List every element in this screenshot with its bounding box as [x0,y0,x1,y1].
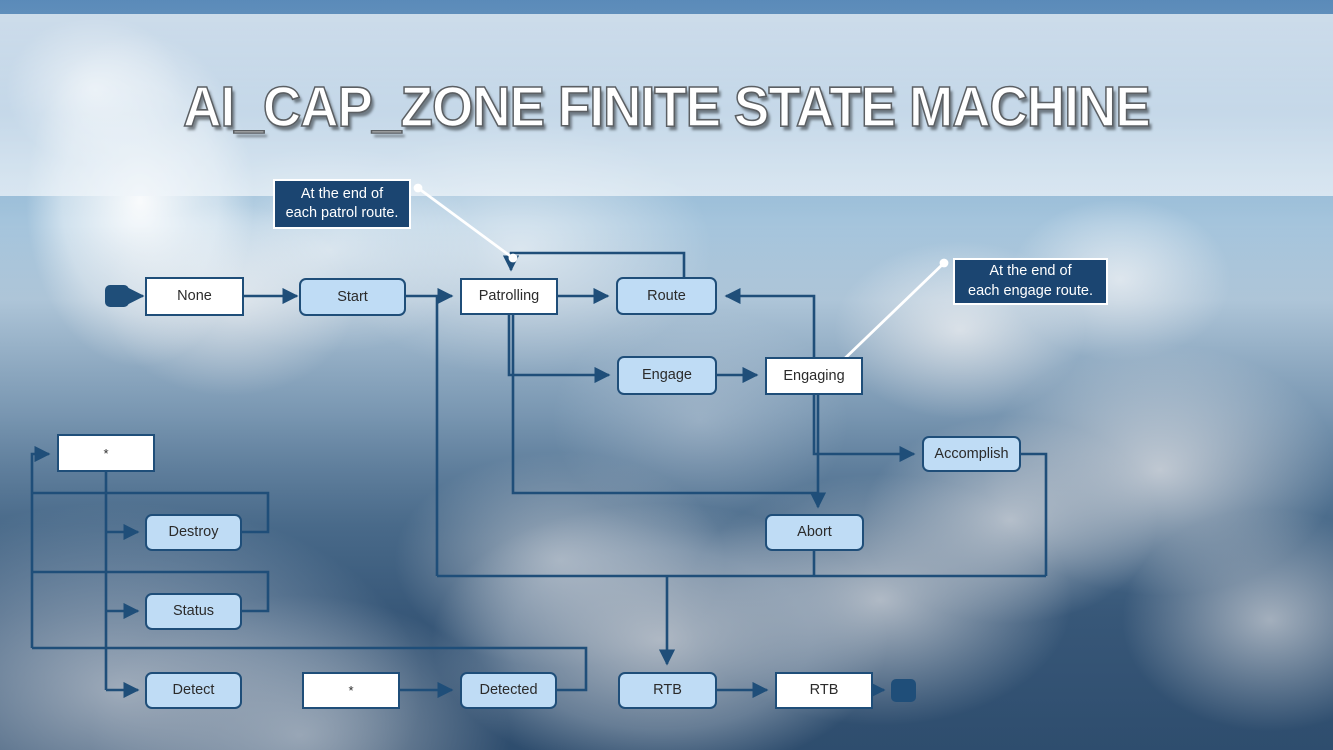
state-node-destroy[interactable]: Destroy [145,514,242,551]
callout-line-1: At the end of [301,185,383,204]
state-node-status[interactable]: Status [145,593,242,630]
state-node-engaging[interactable]: Engaging [765,357,863,395]
edge-patrolling-engage [509,314,609,375]
start-terminator[interactable] [105,285,129,307]
node-label: RTB [653,683,682,698]
state-node-star-left[interactable]: * [57,434,155,472]
node-label: * [348,684,353,697]
end-terminator[interactable] [891,679,916,702]
node-label: Start [337,290,368,305]
state-node-rtb-white[interactable]: RTB [775,672,873,709]
leader-dot-patrol-start [414,184,423,193]
edge-route-patrolling [511,253,684,278]
state-node-detect[interactable]: Detect [145,672,242,709]
callout-line-2: each patrol route. [286,204,399,223]
state-node-detected[interactable]: Detected [460,672,557,709]
node-label: Route [647,289,686,304]
leader-line-patrol-callout [418,188,513,258]
callout-patrol-route[interactable]: At the end of each patrol route. [273,179,411,229]
state-node-star-bottom[interactable]: * [302,672,400,709]
node-label: Abort [797,525,832,540]
callout-engage-route[interactable]: At the end of each engage route. [953,258,1108,305]
callout-line-2: each engage route. [968,282,1093,301]
state-node-route[interactable]: Route [616,277,717,315]
node-label: * [103,447,108,460]
leader-line-engage-callout [838,263,944,365]
leader-dot-engage-start [940,259,949,268]
node-label: Engage [642,368,692,383]
state-node-patrolling[interactable]: Patrolling [460,278,558,315]
state-node-accomplish[interactable]: Accomplish [922,436,1021,472]
node-label: None [177,289,212,304]
edge-engaging-accomplish [814,395,914,454]
node-label: Engaging [783,369,844,384]
node-label: Detected [479,683,537,698]
node-label: Destroy [169,525,219,540]
callout-line-1: At the end of [989,262,1071,281]
state-node-start[interactable]: Start [299,278,406,316]
edge-engaging-route [726,296,814,357]
node-label: Accomplish [934,447,1008,462]
edge-return-star-1 [32,454,49,493]
state-node-rtb-blue[interactable]: RTB [618,672,717,709]
node-label: Status [173,604,214,619]
edge-patrolling-downbus [513,314,818,493]
state-node-engage[interactable]: Engage [617,356,717,395]
state-node-abort[interactable]: Abort [765,514,864,551]
node-label: Detect [173,683,215,698]
leader-dot-patrol-end [509,254,518,263]
slide-canvas: AI_CAP_ZONE FINITE STATE MACHINE [0,0,1333,750]
node-label: Patrolling [479,289,539,304]
node-label: RTB [810,683,839,698]
edge-accomplish-return [1021,454,1046,576]
state-node-none[interactable]: None [145,277,244,316]
